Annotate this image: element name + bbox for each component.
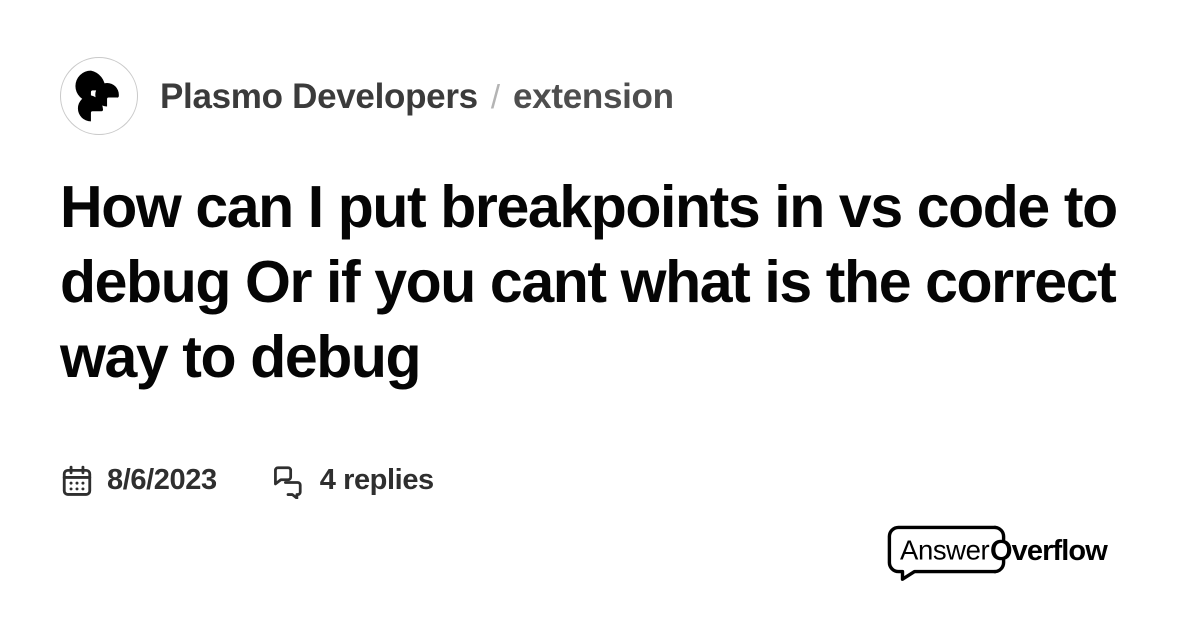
breadcrumb-text: Plasmo Developers / extension [160,79,674,114]
chat-bubbles-icon [271,463,307,499]
answer-overflow-speech-bubble-icon: Answer Overflow [886,524,1112,582]
thread-title: How can I put breakpoints in vs code to … [60,170,1140,395]
breadcrumb-server-name[interactable]: Plasmo Developers [160,79,478,114]
brand-name-bold: Overflow [990,535,1108,567]
og-card: Plasmo Developers / extension How can I … [0,0,1200,630]
answer-overflow-logo[interactable]: Answer Overflow [886,524,1112,582]
thread-date: 8/6/2023 [60,464,217,498]
thread-replies-label: 4 replies [320,466,434,495]
thread-replies: 4 replies [271,463,434,499]
thread-date-label: 8/6/2023 [107,466,217,495]
server-avatar [60,57,138,135]
brand-name-light: Answer [900,535,990,566]
calendar-icon [60,464,94,498]
plasmo-logo-icon [68,65,130,127]
breadcrumb-separator: / [478,80,513,113]
breadcrumb-channel-name[interactable]: extension [513,79,674,114]
thread-meta: 8/6/2023 4 replies [60,463,1140,499]
breadcrumb: Plasmo Developers / extension [60,56,1140,136]
